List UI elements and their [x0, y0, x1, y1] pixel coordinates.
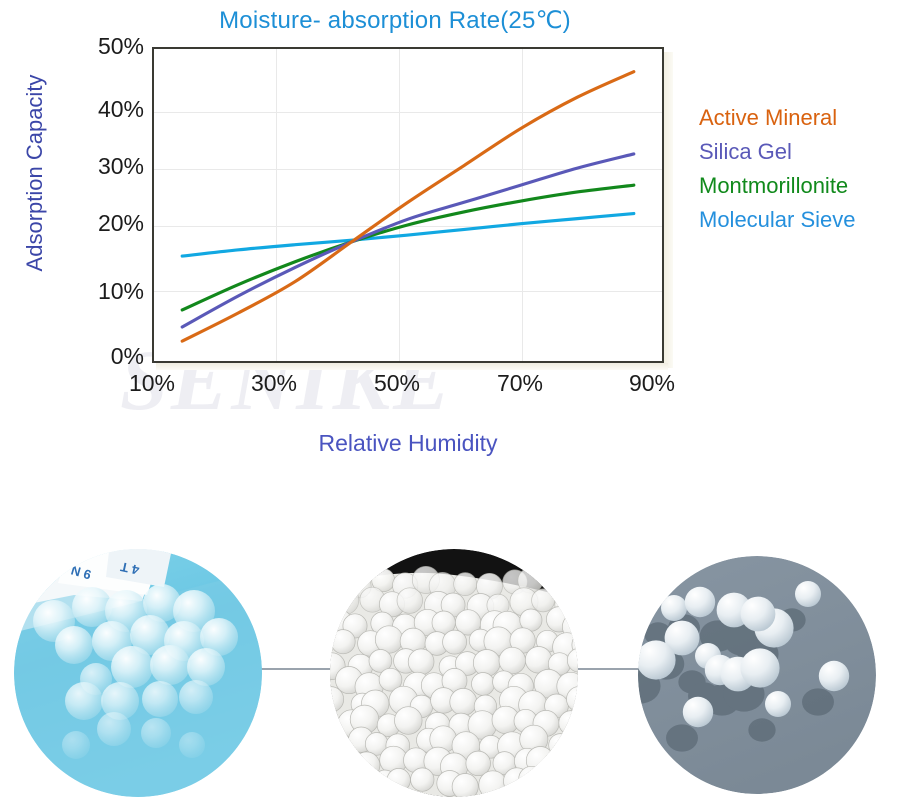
y-tick-30: 30%	[64, 153, 144, 180]
bead	[452, 774, 478, 798]
chart-curves	[154, 49, 662, 361]
y-axis-title: Adsorption Capacity	[22, 43, 48, 303]
bead	[454, 573, 477, 596]
bead	[472, 673, 495, 696]
bead	[765, 691, 791, 717]
bead	[819, 661, 849, 691]
x-tick-30: 30%	[229, 370, 319, 397]
photo-silica-gel-beads-gray	[638, 556, 876, 794]
photo-silica-gel-beads-white	[330, 549, 578, 797]
photo-silica-gel-beads-blue: 9 N 1 4 T	[14, 549, 262, 797]
bead	[397, 588, 423, 614]
series-line-active-mineral	[182, 72, 634, 341]
y-tick-0: 0%	[64, 343, 144, 370]
y-tick-50: 50%	[64, 33, 144, 60]
bead	[473, 650, 500, 677]
bead	[683, 697, 713, 727]
bead	[741, 597, 776, 632]
connector-line-left	[258, 668, 336, 670]
x-tick-50: 50%	[352, 370, 442, 397]
bead	[638, 640, 676, 679]
bead-shadow	[748, 718, 775, 741]
legend-item-silica-gel: Silica Gel	[699, 135, 920, 169]
legend-item-active-mineral: Active Mineral	[699, 101, 920, 135]
x-tick-90: 90%	[607, 370, 697, 397]
y-tick-40: 40%	[64, 96, 144, 123]
series-line-silica-gel	[182, 154, 634, 327]
bead	[411, 768, 434, 791]
y-axis-tick-labels: 50% 40% 30% 20% 10% 0%	[56, 47, 144, 363]
bead-shadow	[802, 688, 834, 715]
x-tick-10: 10%	[107, 370, 197, 397]
plot-edge-shadow-right	[664, 52, 673, 368]
x-axis-title: Relative Humidity	[152, 430, 664, 457]
bead	[395, 707, 423, 735]
bead	[795, 581, 821, 607]
legend-item-molecular-sieve: Molecular Sieve	[699, 203, 920, 237]
photo-3-graphic	[638, 556, 876, 794]
x-axis-tick-labels: 10% 30% 50% 70% 90%	[152, 370, 664, 404]
chart-title: Moisture- absorption Rate(25℃)	[0, 6, 790, 35]
connector-line-right	[574, 668, 644, 670]
plot-edge-shadow-bottom	[156, 363, 668, 370]
chart-panel: SENIKE Moisture- absorption Rate(25℃) Ad…	[0, 0, 920, 500]
bead	[499, 647, 526, 674]
photo-2-graphic	[330, 549, 578, 797]
bead	[661, 595, 687, 621]
x-tick-70: 70%	[475, 370, 565, 397]
bead	[375, 626, 402, 653]
y-tick-10: 10%	[64, 278, 144, 305]
bead	[450, 688, 477, 715]
photo-1-graphic: 9 N 1 4 T	[14, 549, 262, 797]
chart-legend: Active Mineral Silica Gel Montmorillonit…	[699, 101, 920, 237]
bead	[443, 630, 467, 654]
bead-shadow	[666, 724, 698, 751]
y-tick-20: 20%	[64, 210, 144, 237]
bead	[740, 648, 779, 687]
legend-item-montmorillonite: Montmorillonite	[699, 169, 920, 203]
bead	[408, 649, 434, 675]
bead	[685, 587, 715, 617]
plot-area	[152, 47, 664, 363]
